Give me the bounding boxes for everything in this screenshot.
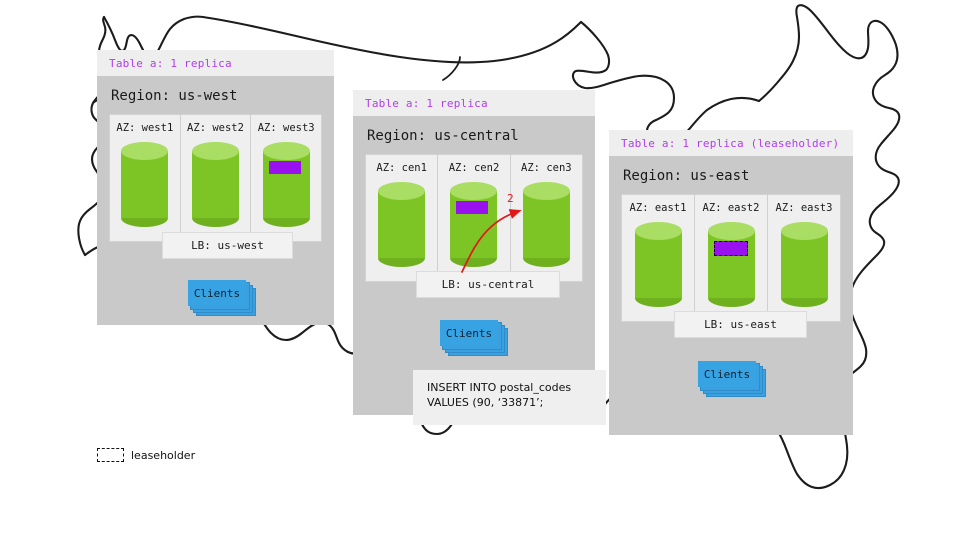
region-title: Region: us-central	[367, 128, 583, 144]
az-cell-west1[interactable]: AZ: west1	[110, 115, 181, 241]
replica-block	[456, 201, 488, 214]
az-cell-east2[interactable]: AZ: east2	[695, 195, 768, 321]
az-cell-cen1[interactable]: AZ: cen1	[366, 155, 438, 281]
node-cylinder	[523, 182, 570, 267]
load-balancer-us-east[interactable]: LB: us-east	[674, 311, 807, 338]
node-cylinder	[450, 182, 497, 267]
node-cylinder	[635, 222, 682, 307]
az-row: AZ: east1 AZ: east2	[621, 194, 841, 322]
az-cell-east1[interactable]: AZ: east1	[622, 195, 695, 321]
clients-us-west[interactable]: Clients	[188, 280, 258, 316]
az-label: AZ: east1	[626, 202, 690, 214]
clients-label: Clients	[698, 361, 756, 387]
clients-label: Clients	[440, 320, 498, 346]
load-balancer-us-west[interactable]: LB: us-west	[162, 232, 293, 259]
clients-us-east[interactable]: Clients	[698, 361, 768, 397]
clients-us-central[interactable]: Clients	[440, 320, 510, 356]
region-title: Region: us-east	[623, 168, 841, 184]
region-header-label: Table a: 1 replica	[97, 50, 334, 76]
node-cylinder	[263, 142, 310, 227]
az-cell-west3[interactable]: AZ: west3	[251, 115, 321, 241]
az-row: AZ: west1 AZ: west2	[109, 114, 322, 242]
az-row: AZ: cen1 AZ: cen2	[365, 154, 583, 282]
az-cell-cen2[interactable]: AZ: cen2	[438, 155, 510, 281]
region-title: Region: us-west	[111, 88, 322, 104]
replica-block	[269, 161, 301, 174]
region-header-label: Table a: 1 replica	[353, 90, 595, 116]
arrow-step-label: 2	[507, 192, 514, 205]
leaseholder-swatch-icon	[97, 448, 124, 462]
region-header-label: Table a: 1 replica (leaseholder)	[609, 130, 853, 156]
sql-statement-box: INSERT INTO postal_codes VALUES (90, ‘33…	[413, 370, 606, 425]
az-label: AZ: cen3	[515, 162, 578, 174]
az-cell-east3[interactable]: AZ: east3	[768, 195, 840, 321]
diagram-canvas: Table a: 1 replica Region: us-west AZ: w…	[0, 0, 960, 540]
replica-block-leaseholder	[714, 241, 748, 256]
region-panel-us-central: Table a: 1 replica Region: us-central AZ…	[353, 90, 595, 415]
az-label: AZ: east2	[699, 202, 763, 214]
az-cell-west2[interactable]: AZ: west2	[181, 115, 252, 241]
node-cylinder	[192, 142, 239, 227]
node-cylinder	[708, 222, 755, 307]
az-label: AZ: west3	[255, 122, 317, 134]
az-label: AZ: cen1	[370, 162, 433, 174]
node-cylinder	[378, 182, 425, 267]
legend: leaseholder	[97, 448, 195, 462]
az-label: AZ: west2	[185, 122, 247, 134]
load-balancer-us-central[interactable]: LB: us-central	[416, 271, 560, 298]
legend-label: leaseholder	[131, 449, 195, 462]
clients-label: Clients	[188, 280, 246, 306]
az-label: AZ: cen2	[442, 162, 505, 174]
az-label: AZ: east3	[772, 202, 836, 214]
node-cylinder	[121, 142, 168, 227]
az-cell-cen3[interactable]: AZ: cen3	[511, 155, 582, 281]
node-cylinder	[781, 222, 828, 307]
az-label: AZ: west1	[114, 122, 176, 134]
